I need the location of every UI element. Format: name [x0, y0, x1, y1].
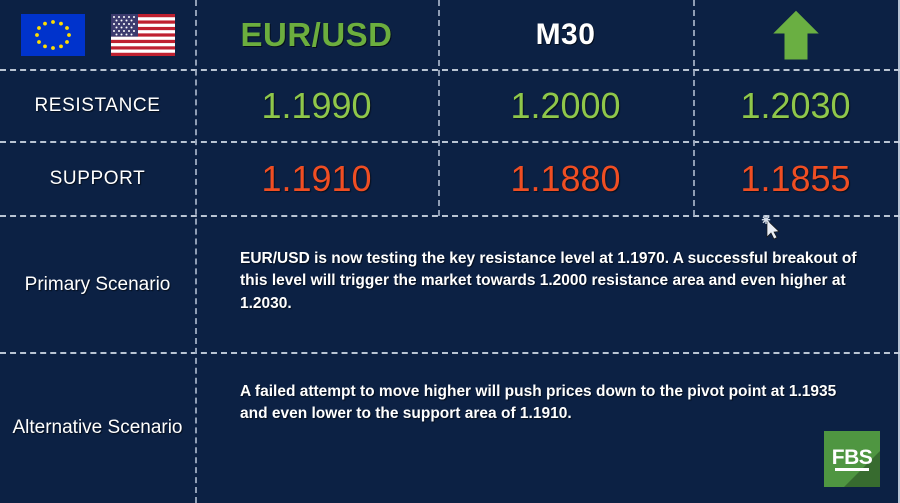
timeframe-cell: M30 [438, 0, 693, 70]
fbs-logo: FBS [824, 431, 880, 487]
fbs-logo-text: FBS [824, 431, 880, 487]
alternative-scenario-text: A failed attempt to move higher will pus… [240, 381, 860, 426]
resistance-value-2: 1.2000 [438, 70, 693, 142]
mouse-cursor-busy-icon [757, 212, 787, 242]
forex-analysis-card: EUR/USD M30 RESISTANCE 1.1990 1.2000 1.2… [0, 0, 900, 503]
resistance-value-3: 1.2030 [693, 70, 898, 142]
alternative-scenario-label: Alternative Scenario [0, 353, 195, 503]
primary-scenario-label: Primary Scenario [0, 216, 195, 353]
grid-line-primary-bottom [0, 352, 900, 354]
support-value-2: 1.1880 [438, 142, 693, 216]
grid-line-col-3 [693, 0, 695, 216]
resistance-row-label: RESISTANCE [0, 70, 195, 142]
support-value-1: 1.1910 [195, 142, 438, 216]
trend-direction-cell [693, 0, 898, 70]
grid-line-col-2 [438, 0, 440, 216]
currency-pair-cell: EUR/USD [195, 0, 438, 70]
eu-flag-icon [21, 14, 85, 56]
support-value-3: 1.1855 [693, 142, 898, 216]
up-arrow-icon [770, 8, 822, 62]
currency-pair-title: EUR/USD [240, 16, 392, 54]
currency-flags [0, 0, 195, 70]
timeframe-label: M30 [536, 18, 596, 52]
resistance-value-1: 1.1990 [195, 70, 438, 142]
support-row-label: SUPPORT [0, 142, 195, 216]
grid-line-col-1 [195, 0, 197, 503]
primary-scenario-text: EUR/USD is now testing the key resistanc… [240, 248, 860, 315]
grid-line-header-bottom [0, 69, 900, 71]
grid-line-resistance-bottom [0, 141, 900, 143]
us-flag-icon [111, 14, 175, 56]
